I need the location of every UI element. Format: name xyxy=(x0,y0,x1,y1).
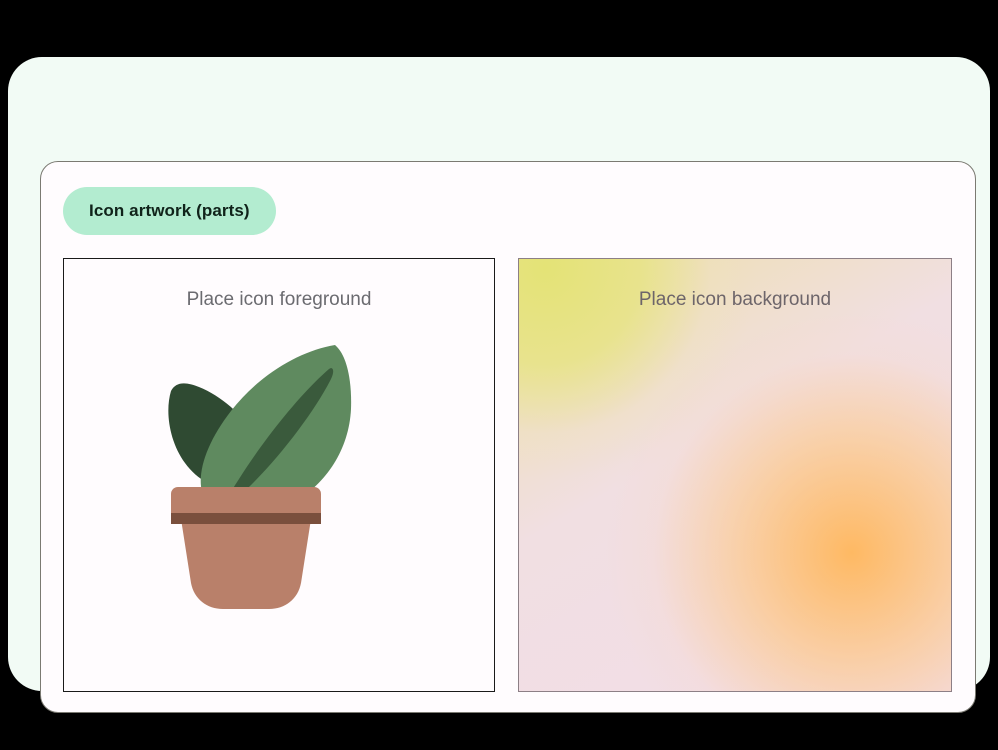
section-badge-label: Icon artwork (parts) xyxy=(89,201,250,221)
potted-plant-icon xyxy=(159,337,399,617)
icon-foreground-dropzone[interactable]: Place icon foreground xyxy=(63,258,495,692)
section-badge: Icon artwork (parts) xyxy=(63,187,276,235)
icon-background-dropzone[interactable]: Place icon background xyxy=(518,258,952,692)
icon-foreground-label: Place icon foreground xyxy=(64,289,494,311)
icon-background-label: Place icon background xyxy=(519,289,951,311)
pot-body-shape xyxy=(181,519,311,609)
pot-band-shape xyxy=(171,513,321,524)
outer-container: Icon artwork (parts) Place icon foregrou… xyxy=(8,57,990,691)
